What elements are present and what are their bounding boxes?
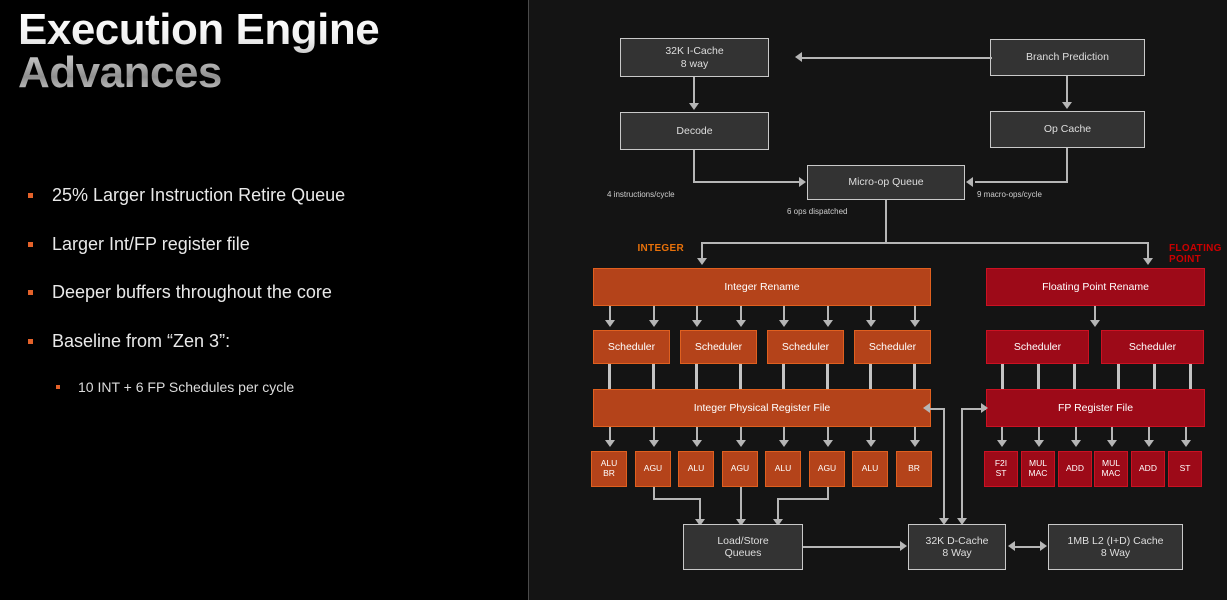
block-load-store-queues: Load/Store Queues xyxy=(683,524,803,570)
block-integer-unit-6: AGU xyxy=(809,451,845,487)
block-fp-unit-5-line1: ADD xyxy=(1139,464,1157,474)
edge-bp-to-icache xyxy=(802,57,992,59)
block-l2-cache-line1: 1MB L2 (I+D) Cache xyxy=(1068,535,1164,547)
arrowhead-l2-to-dcache xyxy=(1008,541,1015,551)
arrowhead-fprf-3 xyxy=(1071,440,1081,447)
edge-irename-2 xyxy=(653,306,655,321)
block-fp-unit-5: ADD xyxy=(1131,451,1165,487)
arrowhead-irename-6 xyxy=(823,320,833,327)
block-fp-unit-4: MUL MAC xyxy=(1094,451,1128,487)
block-integer-unit-7-line1: ALU xyxy=(862,464,879,474)
label-ops-dispatched: 6 ops dispatched xyxy=(787,207,848,216)
sub-bullet-item-1: 10 INT + 6 FP Schedules per cycle xyxy=(50,379,520,395)
block-integer-scheduler-3: Scheduler xyxy=(767,330,844,364)
block-fp-unit-3-line1: ADD xyxy=(1066,464,1084,474)
arrowhead-iprf-7 xyxy=(866,440,876,447)
block-integer-unit-6-line1: AGU xyxy=(818,464,836,474)
arrowhead-iprf-2 xyxy=(649,440,659,447)
edge-fprf-4 xyxy=(1111,427,1113,441)
arrowhead-iprf-1 xyxy=(605,440,615,447)
arrowhead-iprf-8 xyxy=(910,440,920,447)
arrowhead-icache-to-decode xyxy=(689,103,699,110)
block-integer-unit-7: ALU xyxy=(852,451,888,487)
conn-isched-1a xyxy=(608,364,611,389)
arrowhead-fprf-4 xyxy=(1107,440,1117,447)
block-integer-register-file: Integer Physical Register File xyxy=(593,389,931,427)
edge-iprf-5 xyxy=(783,427,785,441)
edge-bp-to-opcache xyxy=(1066,76,1068,102)
block-fp-scheduler-1: Scheduler xyxy=(986,330,1089,364)
edge-dcache-to-iprf-v xyxy=(943,408,945,520)
edge-iprf-2 xyxy=(653,427,655,441)
block-l2-cache-line2: 8 Way xyxy=(1101,547,1130,559)
arrowhead-iprf-3 xyxy=(692,440,702,447)
block-integer-unit-8: BR xyxy=(896,451,932,487)
section-label-floating-point: FLOATING POINT xyxy=(1169,243,1227,265)
block-d-cache-line2: 8 Way xyxy=(942,547,971,559)
edge-agu3-v2 xyxy=(777,498,779,520)
edge-dispatch-split xyxy=(701,242,1149,244)
arrowhead-irename-5 xyxy=(779,320,789,327)
edge-irename-3 xyxy=(696,306,698,321)
edge-dispatch-to-integer xyxy=(701,242,703,259)
bullet-item-2: Larger Int/FP register file xyxy=(20,234,520,256)
block-fp-unit-1-line2: ST xyxy=(996,469,1007,479)
bullet-item-1: 25% Larger Instruction Retire Queue xyxy=(20,185,520,207)
block-fp-unit-3: ADD xyxy=(1058,451,1092,487)
conn-fpsched-1c xyxy=(1073,364,1076,389)
edge-agu3-h xyxy=(777,498,829,500)
block-integer-scheduler-2: Scheduler xyxy=(680,330,757,364)
block-integer-unit-3: ALU xyxy=(678,451,714,487)
edge-iprf-4 xyxy=(740,427,742,441)
block-integer-unit-8-line1: BR xyxy=(908,464,920,474)
edge-dcache-to-iprf-h xyxy=(929,408,945,410)
page-title-line1: Execution Engine xyxy=(18,5,379,54)
block-integer-unit-5-line1: ALU xyxy=(775,464,792,474)
bullet-item-3: Deeper buffers throughout the core xyxy=(20,282,520,304)
edge-iprf-8 xyxy=(914,427,916,441)
block-fp-unit-6: ST xyxy=(1168,451,1202,487)
arrowhead-iprf-5 xyxy=(779,440,789,447)
arrowhead-opcache-to-queue xyxy=(966,177,973,187)
block-integer-unit-4: AGU xyxy=(722,451,758,487)
block-fp-register-file: FP Register File xyxy=(986,389,1205,427)
arrowhead-irename-1 xyxy=(605,320,615,327)
bullet-item-4: Baseline from “Zen 3”: xyxy=(20,331,520,353)
edge-fprf-6 xyxy=(1185,427,1187,441)
arrowhead-to-fprf xyxy=(981,403,988,413)
block-fp-rename: Floating Point Rename xyxy=(986,268,1205,306)
block-fp-scheduler-2: Scheduler xyxy=(1101,330,1204,364)
block-diagram-panel: 32K I-Cache 8 way Branch Prediction Deco… xyxy=(529,0,1227,600)
block-decode: Decode xyxy=(620,112,769,150)
arrowhead-fprf-5 xyxy=(1144,440,1154,447)
edge-iprf-7 xyxy=(870,427,872,441)
arrowhead-dispatch-to-integer xyxy=(697,258,707,265)
edge-irename-7 xyxy=(870,306,872,321)
arrowhead-fprf-6 xyxy=(1181,440,1191,447)
conn-fpsched-2b xyxy=(1153,364,1156,389)
block-integer-scheduler-4: Scheduler xyxy=(854,330,931,364)
block-integer-scheduler-1: Scheduler xyxy=(593,330,670,364)
arrowhead-fprf-1 xyxy=(997,440,1007,447)
block-fp-unit-2-line2: MAC xyxy=(1029,469,1048,479)
conn-isched-3b xyxy=(826,364,829,389)
block-i-cache-line1: 32K I-Cache xyxy=(665,45,723,57)
label-instructions-per-cycle: 4 instructions/cycle xyxy=(607,190,675,199)
arrowhead-to-iprf xyxy=(923,403,930,413)
conn-fpsched-1b xyxy=(1037,364,1040,389)
section-label-integer: INTEGER xyxy=(637,243,684,254)
arrowhead-irename-4 xyxy=(736,320,746,327)
edge-irename-6 xyxy=(827,306,829,321)
block-i-cache: 32K I-Cache 8 way xyxy=(620,38,769,77)
edge-fprf-5 xyxy=(1148,427,1150,441)
edge-opcache-to-queue xyxy=(975,181,1068,183)
label-macroops-per-cycle: 9 macro-ops/cycle xyxy=(977,190,1042,199)
conn-isched-4b xyxy=(913,364,916,389)
block-i-cache-line2: 8 way xyxy=(681,58,708,70)
bullet-list: 25% Larger Instruction Retire Queue Larg… xyxy=(20,185,520,395)
block-fp-unit-2: MUL MAC xyxy=(1021,451,1055,487)
conn-fpsched-2c xyxy=(1189,364,1192,389)
edge-irename-5 xyxy=(783,306,785,321)
edge-dcache-to-fprf-v xyxy=(961,408,963,520)
block-load-store-queues-line2: Queues xyxy=(725,547,762,559)
edge-decode-down xyxy=(693,150,695,182)
block-integer-unit-2-line1: AGU xyxy=(644,464,662,474)
conn-fpsched-2a xyxy=(1117,364,1120,389)
arrowhead-irename-3 xyxy=(692,320,702,327)
block-branch-prediction: Branch Prediction xyxy=(990,39,1145,76)
block-d-cache-line1: 32K D-Cache xyxy=(925,535,988,547)
edge-irename-4 xyxy=(740,306,742,321)
edge-dispatch-to-fp xyxy=(1147,242,1149,259)
arrowhead-dispatch-to-fp xyxy=(1143,258,1153,265)
block-microop-queue: Micro-op Queue xyxy=(807,165,965,200)
edge-irename-8 xyxy=(914,306,916,321)
arrowhead-irename-2 xyxy=(649,320,659,327)
block-integer-unit-1: ALU BR xyxy=(591,451,627,487)
arrowhead-lsq-to-dcache xyxy=(900,541,907,551)
edge-dcache-l2 xyxy=(1015,546,1041,548)
arrowhead-iprf-6 xyxy=(823,440,833,447)
arrowhead-irename-8 xyxy=(910,320,920,327)
arrowhead-irename-7 xyxy=(866,320,876,327)
block-load-store-queues-line1: Load/Store xyxy=(717,535,768,547)
block-integer-unit-1-line2: BR xyxy=(603,469,615,479)
edge-fprf-1 xyxy=(1001,427,1003,441)
edge-fprf-2 xyxy=(1038,427,1040,441)
arrowhead-fprf-2 xyxy=(1034,440,1044,447)
block-op-cache: Op Cache xyxy=(990,111,1145,148)
edge-queue-dispatch-down xyxy=(885,200,887,244)
edge-lsq-to-dcache xyxy=(803,546,901,548)
page-title-line2: Advances xyxy=(18,51,498,94)
conn-isched-2b xyxy=(739,364,742,389)
block-integer-unit-5: ALU xyxy=(765,451,801,487)
conn-isched-2a xyxy=(695,364,698,389)
edge-opcache-down xyxy=(1066,148,1068,182)
conn-fpsched-1a xyxy=(1001,364,1004,389)
block-integer-unit-3-line1: ALU xyxy=(688,464,705,474)
arrowhead-bp-to-icache xyxy=(795,52,802,62)
edge-iprf-6 xyxy=(827,427,829,441)
edge-irename-1 xyxy=(609,306,611,321)
conn-isched-1b xyxy=(652,364,655,389)
block-integer-unit-2: AGU xyxy=(635,451,671,487)
block-fp-unit-1: F2I ST xyxy=(984,451,1018,487)
edge-fprename-down xyxy=(1094,306,1096,321)
block-fp-unit-4-line2: MAC xyxy=(1102,469,1121,479)
slide-root: Execution Engine Advances 25% Larger Ins… xyxy=(0,0,1227,600)
edge-agu1-v2 xyxy=(699,498,701,520)
conn-isched-3a xyxy=(782,364,785,389)
edge-decode-to-queue xyxy=(693,181,799,183)
block-integer-unit-4-line1: AGU xyxy=(731,464,749,474)
arrowhead-fprename-down xyxy=(1090,320,1100,327)
block-d-cache: 32K D-Cache 8 Way xyxy=(908,524,1006,570)
page-title: Execution Engine Advances xyxy=(18,8,498,94)
block-l2-cache: 1MB L2 (I+D) Cache 8 Way xyxy=(1048,524,1183,570)
arrowhead-iprf-4 xyxy=(736,440,746,447)
arrowhead-decode-to-queue xyxy=(799,177,806,187)
edge-fprf-3 xyxy=(1075,427,1077,441)
edge-iprf-3 xyxy=(696,427,698,441)
block-integer-rename: Integer Rename xyxy=(593,268,931,306)
edge-icache-to-decode xyxy=(693,77,695,103)
block-fp-unit-6-line1: ST xyxy=(1180,464,1191,474)
conn-isched-4a xyxy=(869,364,872,389)
edge-iprf-1 xyxy=(609,427,611,441)
arrowhead-bp-to-opcache xyxy=(1062,102,1072,109)
arrowhead-dcache-to-l2 xyxy=(1040,541,1047,551)
edge-agu1-h xyxy=(653,498,701,500)
edge-agu2-down xyxy=(740,487,742,520)
left-text-panel: Execution Engine Advances 25% Larger Ins… xyxy=(0,0,528,600)
